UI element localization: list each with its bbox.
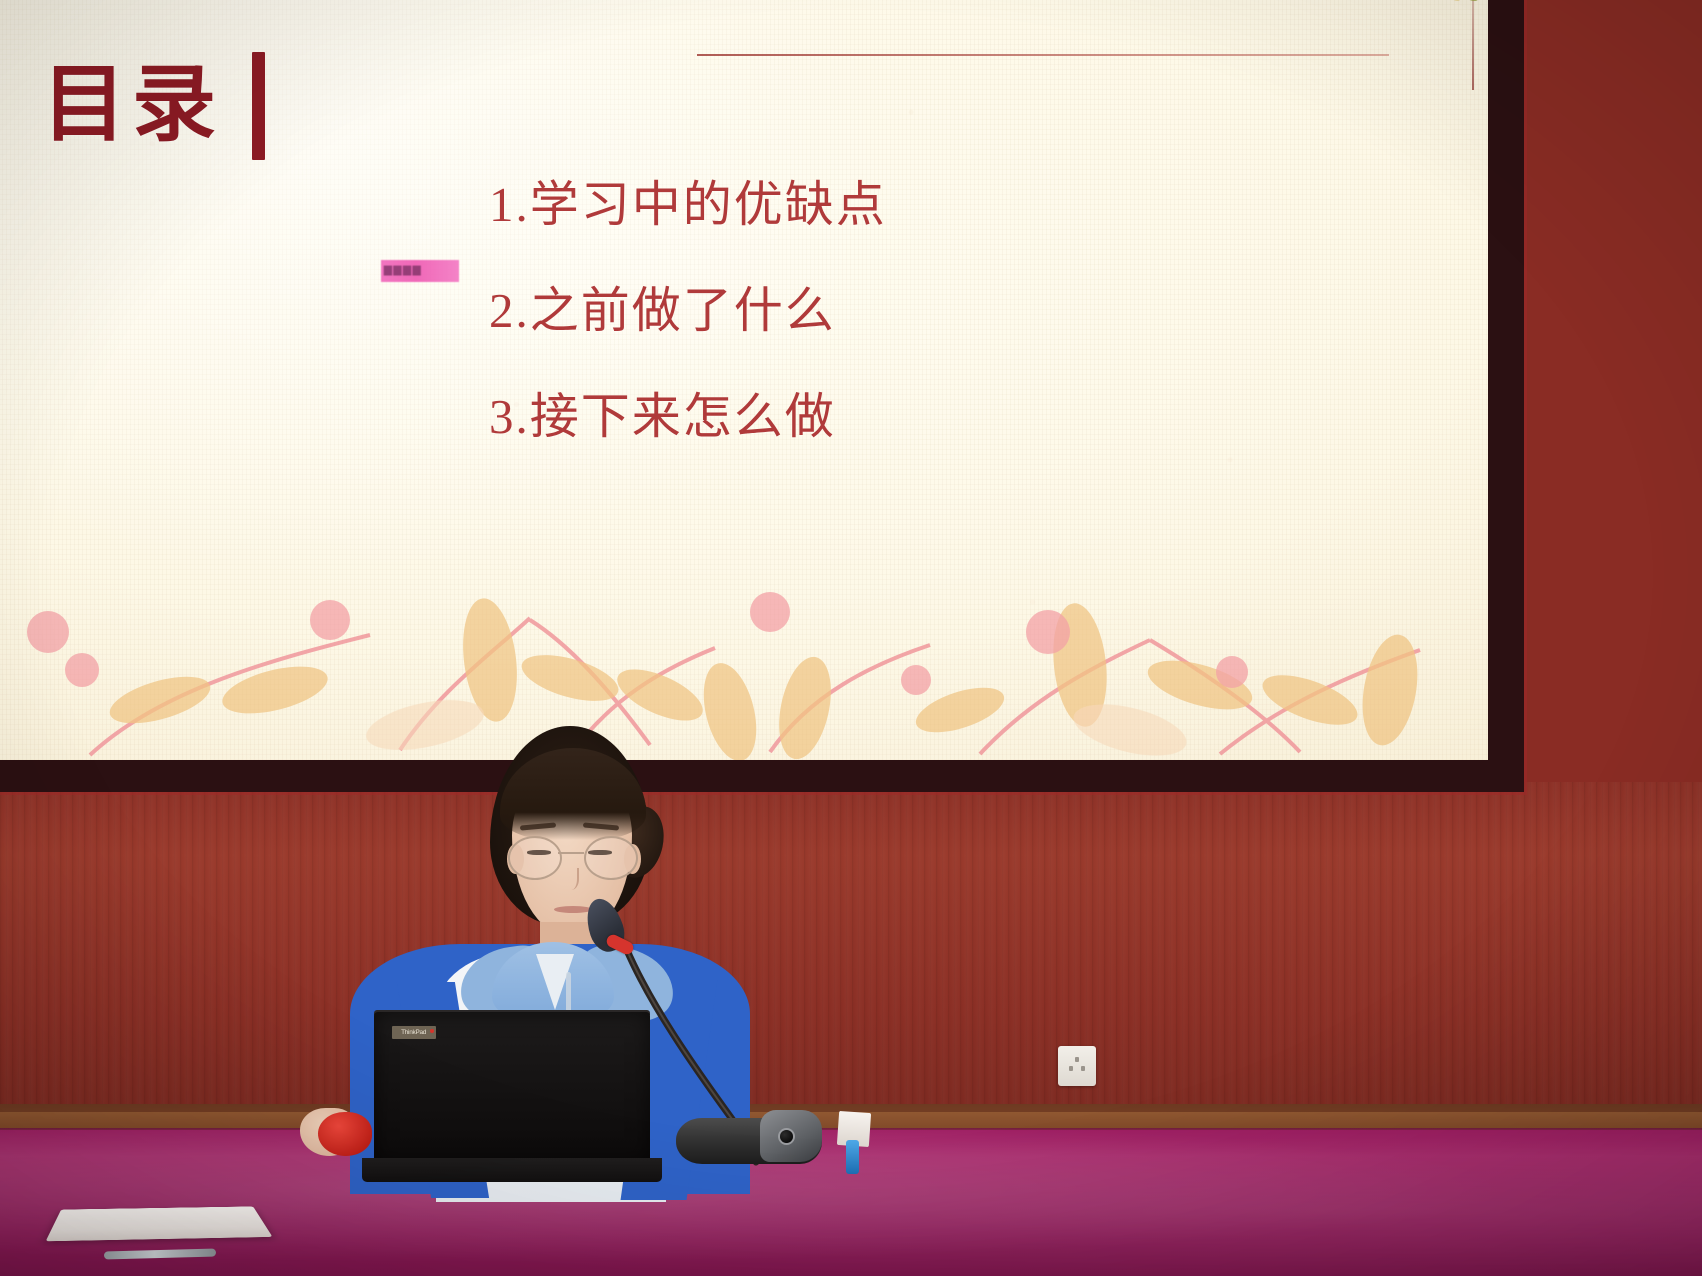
magenta-text-artifact: ■■■■	[381, 260, 459, 282]
thinkpad-logo: ThinkPad	[392, 1026, 436, 1039]
lens-right	[584, 836, 638, 880]
top-vertical-rule	[1472, 0, 1474, 90]
outlet-slot	[1075, 1057, 1079, 1062]
projection-screen-frame: 目录 1.学习中的优缺点 2.之前做了什么 3.接下来怎么做 ■■■■	[0, 0, 1524, 792]
outlet-slot	[1069, 1066, 1073, 1071]
toc-item-2: 2.之前做了什么	[489, 286, 1389, 335]
clipboard	[46, 1206, 273, 1241]
laptop-base	[362, 1158, 662, 1182]
nose	[564, 868, 579, 890]
lens-left	[508, 836, 562, 880]
thinkpad-logo-dot	[430, 1029, 434, 1033]
slide-title-block: 目录	[42, 52, 265, 160]
mouth	[554, 906, 592, 913]
thinkpad-logo-label: ThinkPad	[401, 1029, 426, 1035]
blue-marker-object	[846, 1140, 859, 1174]
title-accent-bar	[252, 52, 265, 160]
toc-list: 1.学习中的优缺点 2.之前做了什么 3.接下来怎么做	[489, 180, 1389, 498]
microphone-button[interactable]	[780, 1130, 793, 1143]
wall-grain-texture	[0, 782, 1702, 1112]
leaf-sprig-icon	[1425, 0, 1488, 8]
wall-wainscot-panel	[0, 782, 1702, 1112]
toc-item-3: 3.接下来怎么做	[489, 392, 1389, 441]
wall-outlet[interactable]	[1058, 1046, 1096, 1086]
magenta-text-artifact-label: ■■■■	[381, 260, 447, 282]
outlet-slot	[1081, 1066, 1085, 1071]
toc-item-1: 1.学习中的优缺点	[489, 180, 1389, 229]
projection-screen: 目录 1.学习中的优缺点 2.之前做了什么 3.接下来怎么做 ■■■■	[0, 0, 1488, 760]
top-horizontal-rule	[697, 54, 1389, 56]
red-object	[318, 1112, 372, 1156]
glasses-bridge	[558, 852, 584, 854]
page-title: 目录	[42, 64, 222, 148]
presentation-photo: 目录 1.学习中的优缺点 2.之前做了什么 3.接下来怎么做 ■■■■	[0, 0, 1702, 1276]
